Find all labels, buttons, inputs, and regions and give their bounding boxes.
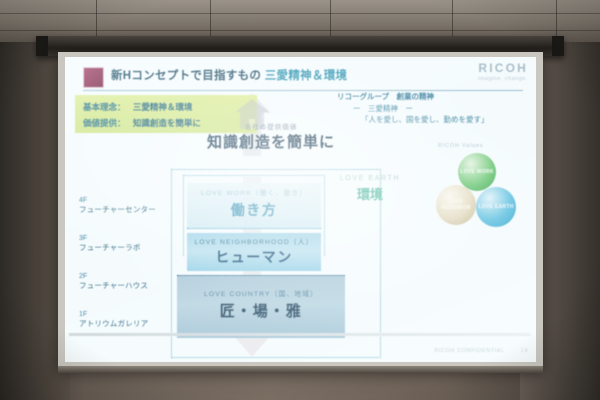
floor-num-1f: 1F [79,311,171,318]
blue-sphere: LOVE EARTH [476,187,516,227]
floor-item-2f: 2F フューチャーハウス [79,273,171,291]
floor-name-1f: アトリウムガレリア [79,318,171,329]
concept-bar-country: LOVE COUNTRY（国、地域） 匠・場・雅 [177,275,345,338]
projected-slide-area: 新Hコンセプトで目指すもの 三愛精神＆環境 RICOH imagine. cha… [65,57,536,362]
slide-title-accent: 三愛精神＆環境 [265,70,348,82]
bar-work-en: LOVE WORK（働く、働き） [187,187,321,197]
founding-spirit-block: リコーグループ 創業の精神 ー 三愛精神 ー 「人を愛し、国を愛し、勤めを愛す」 [337,91,522,126]
red-square-mark-icon [83,67,104,88]
slide-title: 新Hコンセプトで目指すもの 三愛精神＆環境 [111,67,347,83]
philosophy-value-2: 知識創造を簡単に [133,118,201,128]
slide-headline: 知識創造を簡単に [183,131,359,152]
ricoh-tagline: imagine. change. [478,76,528,82]
cream-sphere: LOVE NEIGHBOR [436,185,476,225]
value-eyebrow-label: 当社の提供価値 [211,121,331,131]
credo-line-1: リコーグループ 創業の精神 [337,91,522,103]
ricoh-wordmark: RICOH [478,61,528,75]
slide-footer: RICOH CONFIDENTIAL 14 [434,348,528,354]
presentation-slide: 新Hコンセプトで目指すもの 三愛精神＆環境 RICOH imagine. cha… [65,57,536,362]
philosophy-value-1: 三愛精神＆環境 [133,102,193,112]
philosophy-row-1: 基本理念： 三愛精神＆環境 [83,101,192,113]
environment-block: LOVE EARTH 環境 [327,175,413,203]
meeting-room-background: 新Hコンセプトで目指すもの 三愛精神＆環境 RICOH imagine. cha… [0,0,600,400]
slide-title-main: 新Hコンセプトで目指すもの [111,70,261,82]
footer-note: RICOH CONFIDENTIAL [434,348,504,354]
screen-bottom-bar [58,366,543,373]
floor-num-3f: 3F [79,235,171,242]
floor-name-3f: フューチャーラボ [79,242,171,253]
bar-human-jp: ヒューマン [187,247,321,267]
concept-bar-work: LOVE WORK（働く、働き） 働き方 [187,183,321,229]
footer-page-number: 14 [521,348,528,354]
projection-screen: 新Hコンセプトで目指すもの 三愛精神＆環境 RICOH imagine. cha… [58,52,543,370]
floor-name-4f: フューチャーセンター [79,204,171,215]
floor-item-1f: 1F アトリウムガレリア [79,311,171,329]
values-caption: RICOH Values [438,143,483,149]
cream-sphere-label: LOVE NEIGHBOR [436,185,476,225]
ricoh-logo: RICOH imagine. change. [478,61,528,82]
philosophy-label-1: 基本理念： [83,102,126,112]
bar-human-en: LOVE NEIGHBORHOOD（人） [187,236,321,246]
credo-line-3: 「人を愛し、国を愛し、勤めを愛す」 [337,114,522,126]
slide-title-row: 新Hコンセプトで目指すもの 三愛精神＆環境 [83,65,523,89]
bar-country-jp: 匠・場・雅 [177,300,345,321]
bar-work-jp: 働き方 [187,200,321,220]
philosophy-row-2: 価値提供： 知識創造を簡単に [83,117,201,129]
environment-jp: 環境 [327,184,413,203]
floor-label-list: 4F フューチャーセンター 3F フューチャーラボ 2F フューチャーハウス 1… [79,197,171,349]
bar-country-en: LOVE COUNTRY（国、地域） [177,288,345,298]
concept-bar-human: LOVE NEIGHBORHOOD（人） ヒューマン [187,233,321,271]
floor-item-3f: 3F フューチャーラボ [79,235,171,253]
floor-num-2f: 2F [79,273,171,280]
footer-divider [69,333,531,336]
credo-line-2: ー 三愛精神 ー [337,103,522,115]
environment-en: LOVE EARTH [327,175,413,182]
floor-item-4f: 4F フューチャーセンター [79,197,171,215]
floor-num-4f: 4F [79,197,171,204]
floor-name-2f: フューチャーハウス [79,280,171,291]
philosophy-label-2: 価値提供： [83,118,126,128]
blue-sphere-label: LOVE EARTH [476,187,516,227]
values-sphere-group: RICOH Values LOVE WORK LOVE NEIGHBOR LOV… [432,143,528,229]
